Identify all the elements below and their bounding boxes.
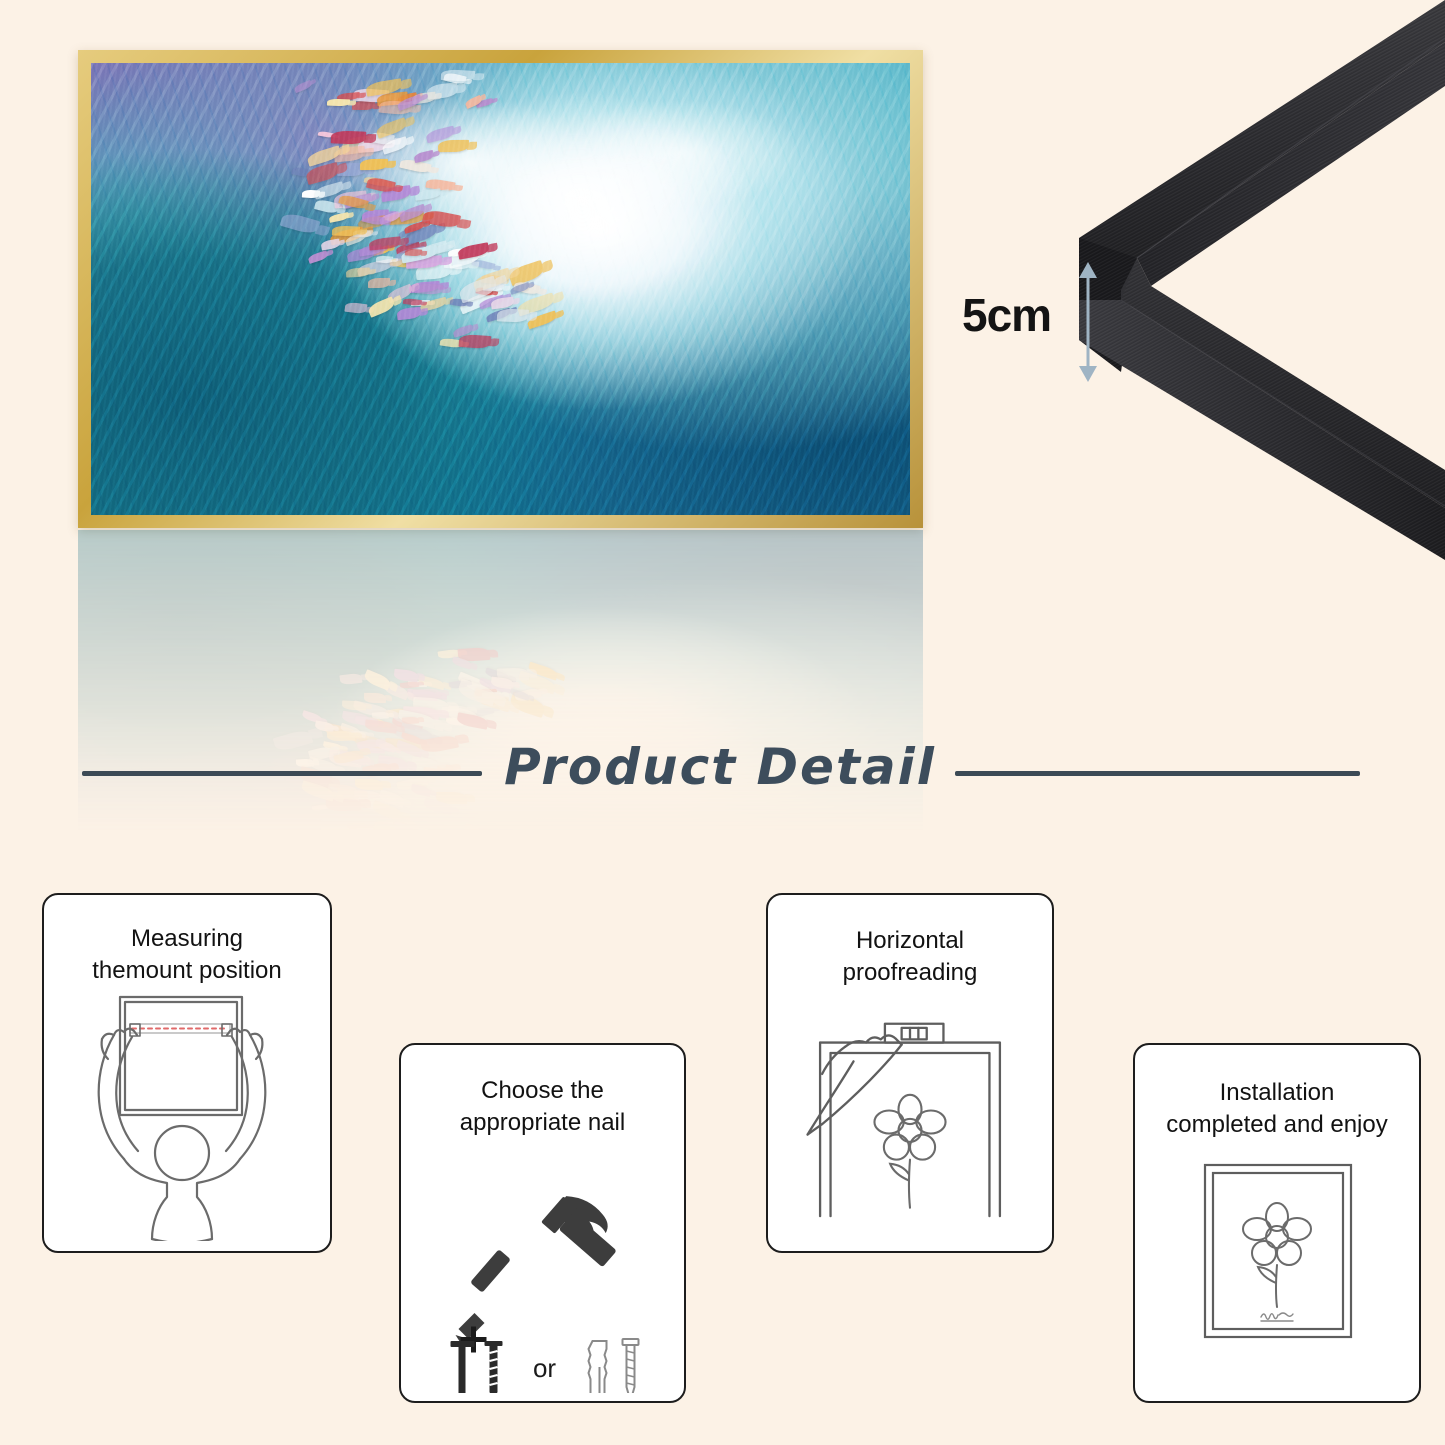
dimension-arrow-icon bbox=[1068, 262, 1108, 382]
painting-canvas bbox=[91, 63, 910, 515]
hung-framed-picture-icon bbox=[1135, 1151, 1419, 1391]
card-title: Measuringthemount position bbox=[44, 923, 330, 986]
impasto-texture-layer bbox=[91, 63, 910, 515]
or-label: or bbox=[533, 1353, 556, 1383]
section-heading: Product Detail bbox=[0, 738, 1445, 818]
instruction-card-nail[interactable]: Choose theappropriate nail bbox=[399, 1043, 686, 1403]
instruction-card-measuring[interactable]: Measuringthemount position bbox=[42, 893, 332, 1253]
heading-divider-left bbox=[82, 771, 482, 776]
hand-with-spirit-level-icon bbox=[768, 1007, 1052, 1237]
frame-depth-dimension: 5cm bbox=[962, 262, 1082, 382]
frame-depth-label: 5cm bbox=[962, 288, 1051, 342]
heading-divider-right bbox=[955, 771, 1360, 776]
framed-artwork bbox=[78, 50, 923, 528]
hammer-and-nails-icon: or bbox=[401, 1153, 684, 1393]
instruction-card-level[interactable]: Horizontalproofreading bbox=[766, 893, 1054, 1253]
card-title: Installationcompleted and enjoy bbox=[1135, 1077, 1419, 1140]
person-holding-frame-icon bbox=[44, 991, 330, 1241]
instruction-card-complete[interactable]: Installationcompleted and enjoy bbox=[1133, 1043, 1421, 1403]
card-title: Choose theappropriate nail bbox=[401, 1075, 684, 1138]
page-title: Product Detail bbox=[500, 738, 940, 796]
card-title: Horizontalproofreading bbox=[768, 925, 1052, 988]
